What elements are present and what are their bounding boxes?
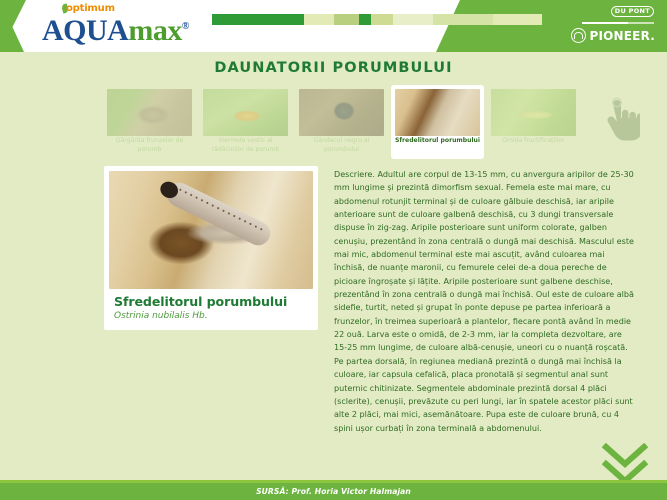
featured-pest-title: Sfredelitorul porumbului — [114, 294, 312, 309]
larva-segment-dot — [195, 196, 198, 199]
logo-trademark: ® — [182, 21, 189, 32]
pest-thumbnail-4[interactable]: Sfredelitorul porumbului — [392, 86, 483, 158]
pest-thumbnail-image — [299, 89, 384, 136]
pest-thumbnail-caption: Sfredelitorul porumbului — [394, 137, 481, 146]
pest-thumbnail-caption: Omida fructificațiilor — [490, 137, 577, 146]
larva-segment-dot — [249, 223, 252, 226]
larva-segment-dot — [238, 217, 241, 220]
pest-thumbnail-1[interactable]: Gărgărița frunzelor de porumb — [104, 86, 195, 158]
featured-pest-image — [109, 171, 313, 289]
pioneer-mark-icon — [571, 28, 586, 43]
logo-aquamax-text: AQUAmax® — [42, 12, 189, 46]
header-bar-segment — [359, 14, 371, 25]
pest-thumbnail-strip: Gărgărița frunzelor de porumbViermele ve… — [104, 86, 584, 158]
page-title: DAUNATORII PORUMBULUI — [0, 60, 667, 76]
app-header: optimum AQUAmax® PERFORMANȚE DE PRODUCȚI… — [0, 0, 667, 52]
app-stage: optimum AQUAmax® PERFORMANȚE DE PRODUCȚI… — [0, 0, 667, 500]
larva-segment-dot — [217, 207, 220, 210]
header-bar-segment — [393, 14, 433, 25]
pest-thumbnail-image — [491, 89, 576, 136]
header-bar-segment — [433, 14, 493, 25]
larva-body — [163, 179, 274, 250]
header-tagline: PERFORMANȚE DE PRODUCȚIE MAXIMĂ INDIFERE… — [196, 37, 438, 46]
header-divider-rule — [582, 22, 654, 24]
larva-segment-dot — [206, 202, 209, 205]
pest-thumbnail-caption: Gărgărița frunzelor de porumb — [106, 137, 193, 154]
double-chevron-down-icon[interactable] — [602, 443, 648, 485]
header-bar-segment — [371, 14, 393, 25]
footer-source: SURSĂ: Prof. Horia Victor Halmajan — [0, 483, 667, 500]
header-bar-segment — [493, 14, 542, 25]
pioneer-label: PIONEER. — [589, 29, 655, 43]
larva-segment-dot — [233, 215, 236, 218]
pest-thumbnail-caption: Viermele vestic al rădăcinilor de porumb — [202, 137, 289, 154]
larva-segment-dot — [227, 212, 230, 215]
pest-thumbnail-image — [107, 89, 192, 136]
larva-segment-dot — [222, 209, 225, 212]
pest-thumbnail-caption: Gândacul negru al porumbului — [298, 137, 385, 154]
dupont-logo: DU PONT — [611, 6, 654, 17]
larva-segment-dot — [260, 228, 263, 231]
larva-segment-dot — [201, 199, 204, 202]
pest-thumbnail-image — [203, 89, 288, 136]
pointing-hand-icon — [600, 96, 640, 142]
larva-segment-dot — [184, 191, 187, 194]
larva-illustration — [160, 179, 279, 258]
larva-segment-dot — [211, 204, 214, 207]
header-color-bars — [212, 14, 542, 25]
featured-pest-caption: Sfredelitorul porumbului Ostrinia nubila… — [114, 294, 312, 321]
larva-segment-dot — [254, 225, 257, 228]
pioneer-logo: PIONEER. — [571, 28, 655, 43]
header-bar-segment — [212, 14, 304, 25]
logo-aqua-part: AQUA — [42, 14, 128, 47]
logo-max-part: max — [128, 14, 182, 47]
larva-segment-dot — [190, 194, 193, 197]
header-bar-segment — [304, 14, 334, 25]
pest-thumbnail-5[interactable]: Omida fructificațiilor — [488, 86, 579, 158]
pest-description-text: Descriere. Adultul are corpul de 13-15 m… — [334, 168, 634, 435]
pest-thumbnail-image — [395, 89, 480, 136]
larva-segment-dot — [179, 188, 182, 191]
featured-pest-latin-name: Ostrinia nubilalis Hb. — [114, 311, 312, 321]
header-bar-segment — [334, 14, 359, 25]
pest-thumbnail-2[interactable]: Viermele vestic al rădăcinilor de porumb — [200, 86, 291, 158]
featured-pest-card[interactable]: Sfredelitorul porumbului Ostrinia nubila… — [104, 166, 318, 330]
larva-segment-dot — [244, 220, 247, 223]
pest-thumbnail-3[interactable]: Gândacul negru al porumbului — [296, 86, 387, 158]
